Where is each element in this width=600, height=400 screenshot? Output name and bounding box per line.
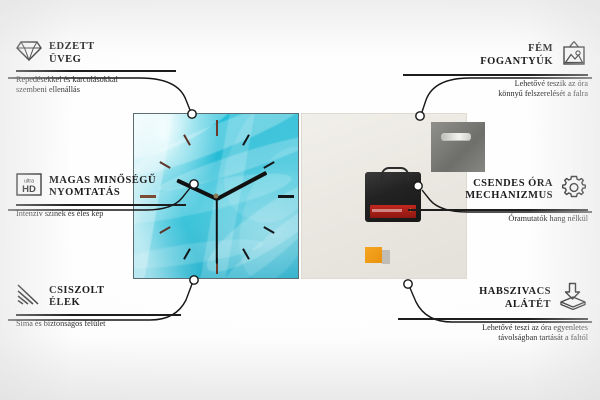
hatch-lines-icon [16,283,42,311]
infographic-canvas: + EDZE [0,0,600,400]
callout-divider [398,318,588,320]
foam-pad-shadow [382,250,390,264]
callout-title-line2: NYOMTATÁS [49,187,120,198]
callout-title-line2: ÜVEG [49,54,81,65]
clock-tick [278,195,294,198]
callout-divider [408,209,588,211]
diamond-icon [16,40,42,67]
ultra-hd-icon: ultra HD [16,173,42,201]
callout-title-line1: EDZETT [49,41,95,52]
callout-metal-handles[interactable]: FÉM FOGANTYÚK Lehetővé teszik az óra kön… [403,40,588,100]
callout-title-line1: CSENDES ÓRA [473,178,553,189]
callout-desc-line2: könnyű felszerelését a falra [498,89,588,98]
callout-divider [16,314,181,316]
clock-second-hand [216,198,218,264]
callout-high-quality-print[interactable]: ultra HD MAGAS MINŐSÉGŰ NYOMTATÁS Intenz… [16,173,186,219]
callout-desc-line1: Lehetővé teszik az óra [515,79,588,88]
metal-hanger-plate [431,122,485,172]
svg-text:HD: HD [22,184,36,195]
battery-stripe [372,209,402,212]
callout-desc-line1: Óramutatók hang nélkül [508,214,588,223]
callout-desc-line2: szembeni ellenállás [16,85,80,94]
callout-desc-line1: Lehetővé teszi az óra egyenletes [482,323,588,332]
callout-foam-pad[interactable]: HABSZIVACS ALÁTÉT Lehetővé teszi az óra … [398,282,588,344]
callout-title-line2: MECHANIZMUS [465,190,553,201]
callout-divider [16,70,176,72]
hanger-keyhole-slot [441,133,471,140]
clock-tick [159,226,170,234]
callout-polished-edges[interactable]: CSISZOLT ÉLEK Sima és biztonságos felüle… [16,283,181,329]
callout-tempered-glass[interactable]: EDZETT ÜVEG Repedésekkel és karcolásokka… [16,40,176,96]
callout-title-line1: HABSZIVACS [479,286,551,297]
framed-picture-hanger-icon [560,40,588,71]
gear-icon [560,174,588,206]
callout-title-line2: ALÁTÉT [505,299,551,310]
movement-handle [381,167,409,181]
callout-title-line1: CSISZOLT [49,285,105,296]
clock-tick [216,120,218,136]
callout-title-line2: FOGANTYÚK [480,56,553,67]
callout-desc-line1: Repedésekkel és karcolásokkal [16,75,118,84]
callout-title-line2: ÉLEK [49,297,80,308]
callout-divider [403,74,588,76]
callout-divider [16,204,186,206]
callout-desc-line2: távolságban tartását a faltól [498,333,588,342]
clock-center-hub [214,194,219,199]
callout-desc-line1: Intenzív színek és éles kép [16,209,103,218]
callout-title-line1: FÉM [528,43,553,54]
callout-title-line1: MAGAS MINŐSÉGŰ [49,175,156,186]
callout-desc-line1: Sima és biztonságos felület [16,319,105,328]
foam-pad [365,247,382,263]
callout-quiet-mechanism[interactable]: CSENDES ÓRA MECHANIZMUS Óramutatók hang … [408,174,588,224]
press-down-pad-icon [558,282,588,315]
